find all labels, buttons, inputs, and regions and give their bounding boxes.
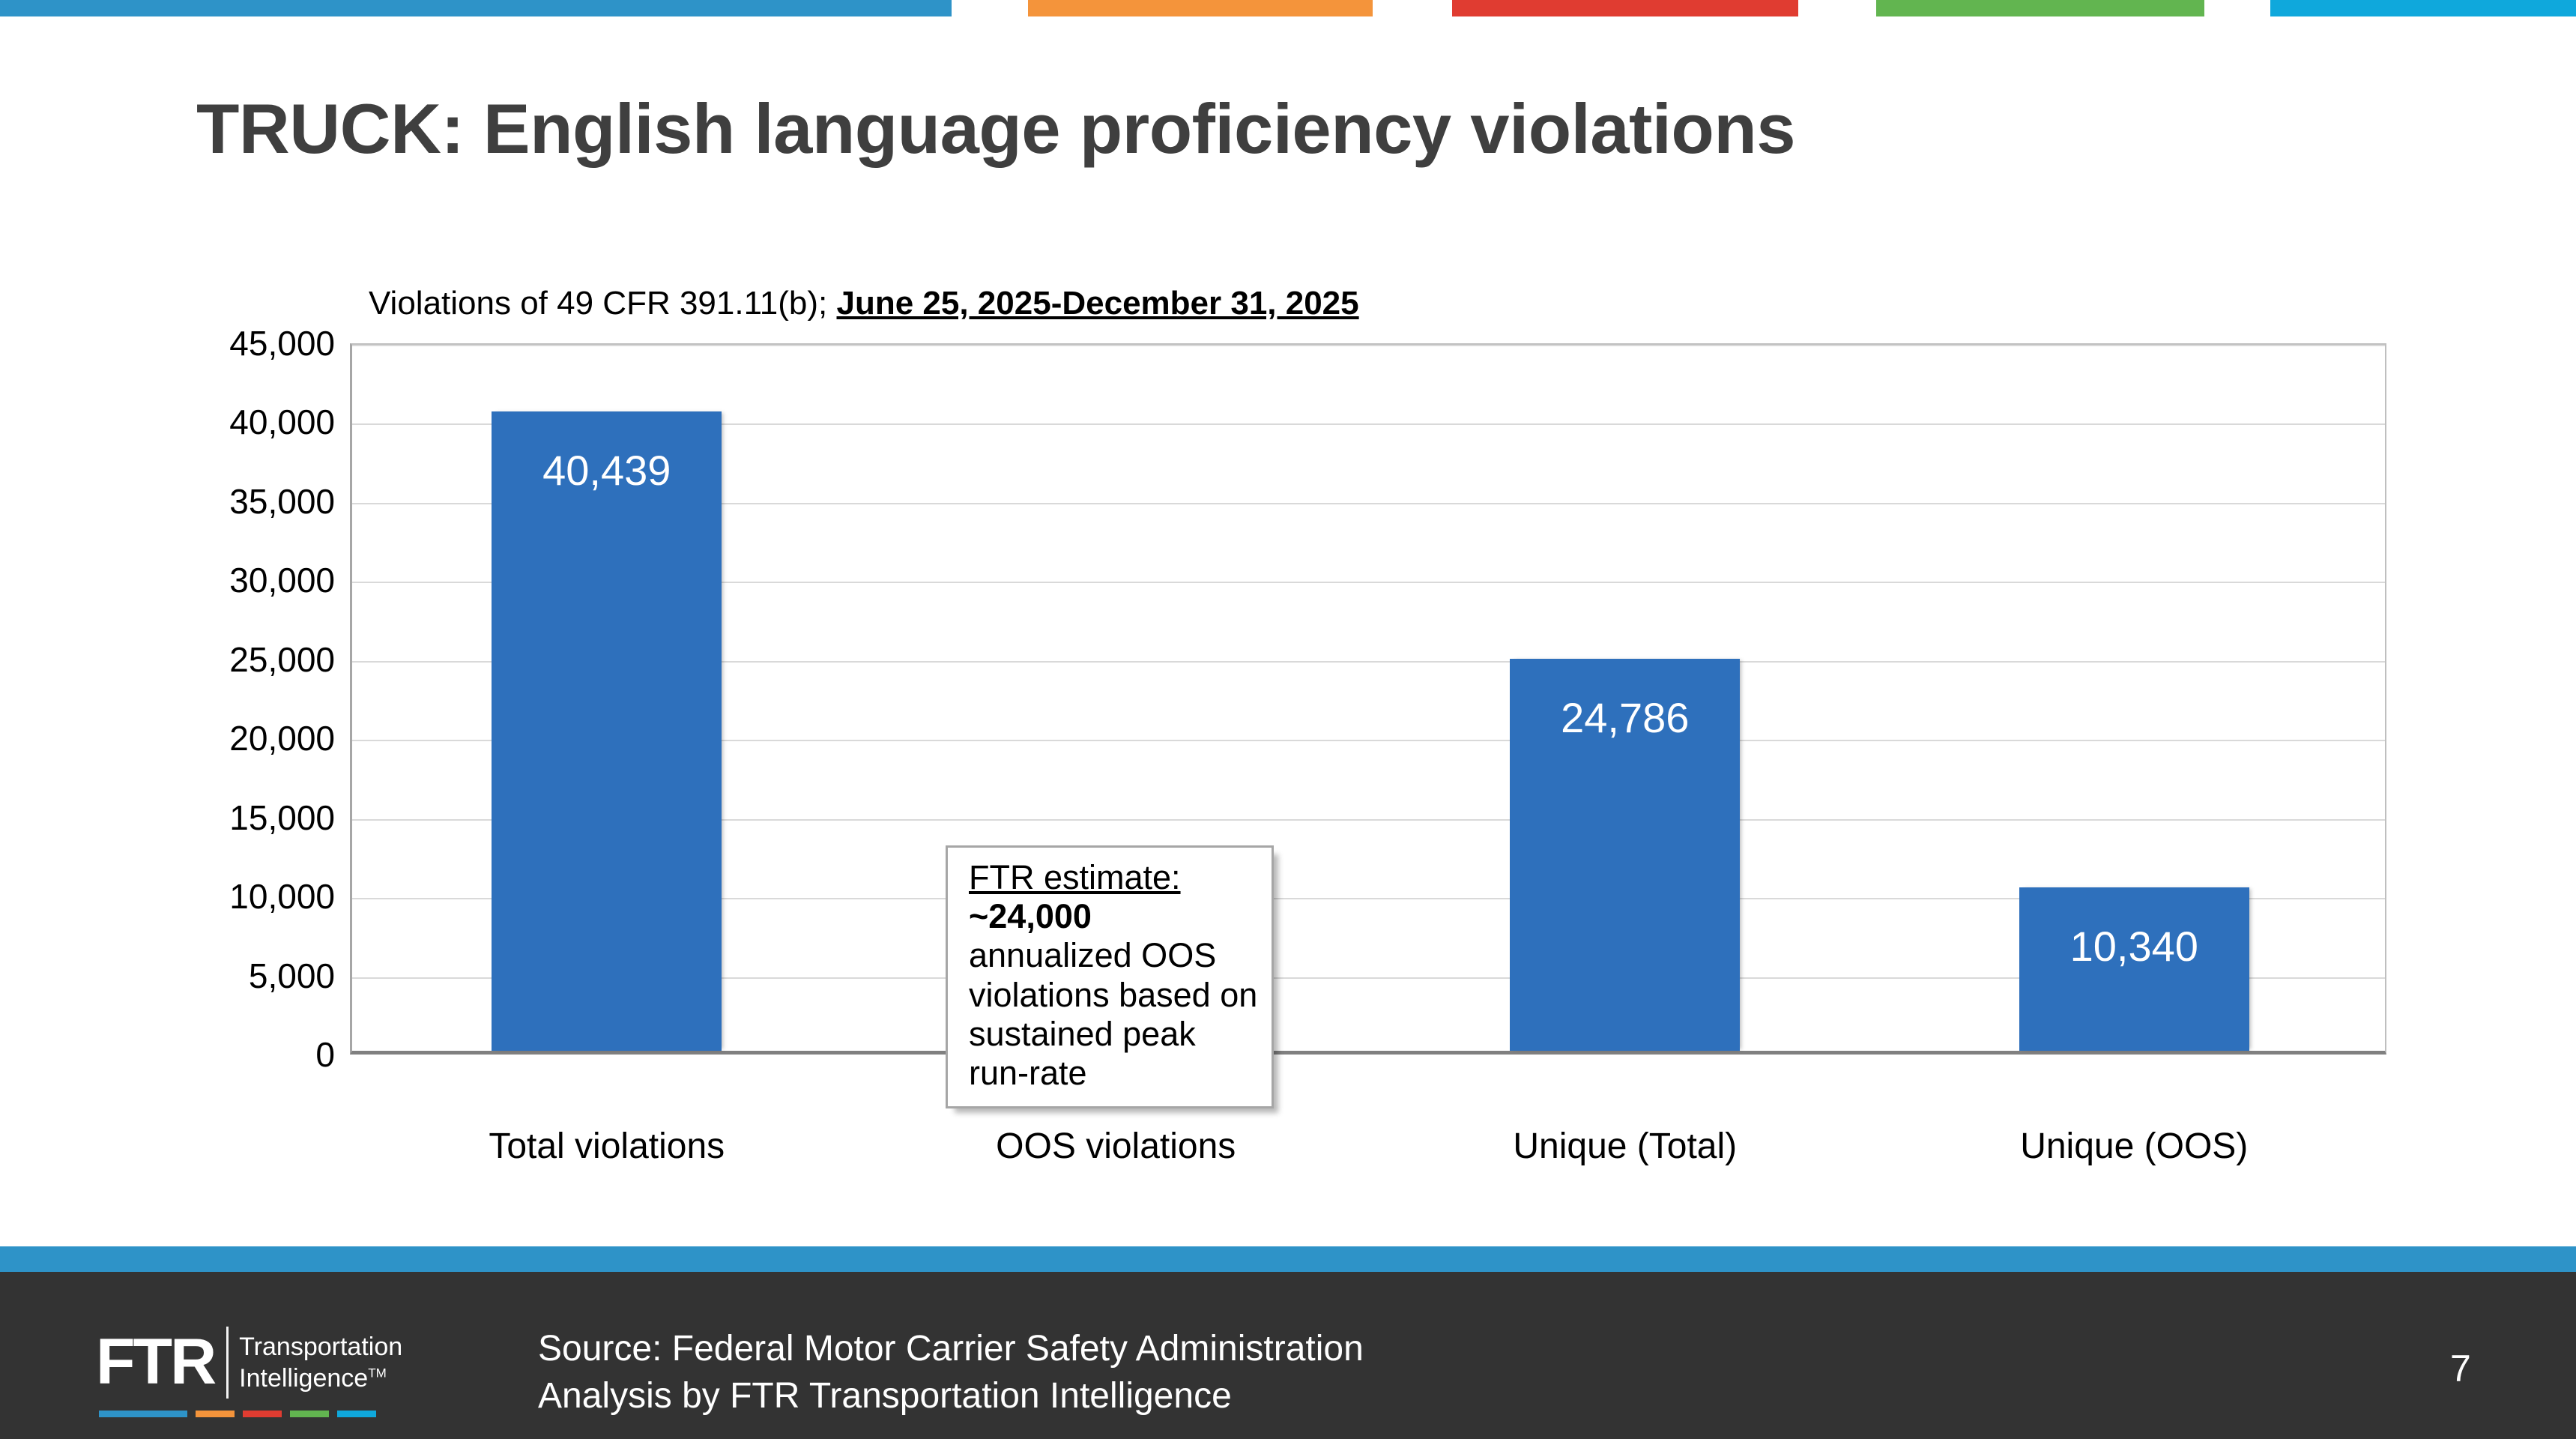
x-axis-category-label: Unique (OOS) [1880,1126,2389,1167]
bar-chart: Violations of 49 CFR 391.11(b); June 25,… [0,285,2576,1169]
trademark-icon: TM [368,1366,387,1381]
logo-bar-orange [196,1411,235,1417]
plot-area: 40,439Total violations11,513OOS violatio… [350,343,2386,1055]
bar: 40,439 [492,411,722,1051]
x-axis-category-label: Total violations [352,1126,862,1167]
slide-canvas: TRUCK: English language proficiency viol… [0,0,2576,1439]
page-number: 7 [2450,1347,2471,1390]
gridline [352,345,2385,346]
x-axis-category-label: OOS violations [862,1126,1371,1167]
logo-wordmark: FTR [96,1332,214,1393]
x-axis-category-label: Unique (Total) [1370,1126,1880,1167]
page-title: TRUCK: English language proficiency viol… [196,88,2369,169]
logo-tagline-line-2: Intelligence [239,1364,368,1393]
red-segment [1452,0,1798,16]
footer-accent-bar [0,1246,2576,1272]
y-axis-tick-label: 15,000 [110,797,335,838]
y-axis-tick-label: 0 [110,1034,335,1075]
logo-tagline-line-1: Transportation [239,1331,402,1363]
logo-bar-red [243,1411,282,1417]
y-axis-tick-label: 5,000 [110,956,335,996]
y-axis-tick-label: 45,000 [110,323,335,363]
callout-heading: FTR estimate: [969,858,1258,897]
chart-subtitle-date-range: June 25, 2025-December 31, 2025 [837,285,1359,322]
chart-subtitle-plain: Violations of 49 CFR 391.11(b); [369,285,837,322]
green-segment [1876,0,2204,16]
callout-textbox: FTR estimate: ~24,000 annualized OOS vio… [946,845,1274,1108]
y-axis-tick-labels: 45,00040,00035,00030,00025,00020,00015,0… [103,343,335,1055]
bar-value-label: 40,439 [492,446,722,495]
logo-tagline-line-2-wrap: IntelligenceTM [239,1363,402,1395]
ftr-logo: FTR Transportation IntelligenceTM [96,1327,471,1417]
blue-segment [0,0,952,16]
y-axis-tick-label: 30,000 [110,560,335,600]
callout-body: ~24,000 annualized OOS violations based … [969,897,1258,1093]
cyan-segment [2270,0,2576,16]
callout-body-text: annualized OOS violations based on susta… [969,936,1257,1092]
logo-divider [226,1327,229,1399]
source-note: Source: Federal Motor Carrier Safety Adm… [538,1325,1364,1420]
orange-segment [1028,0,1373,16]
bar: 24,786 [1510,659,1740,1051]
logo-bar-blue [99,1411,187,1417]
logo-accent-bars [99,1411,471,1417]
y-axis-tick-label: 10,000 [110,876,335,917]
callout-value: ~24,000 [969,897,1092,935]
y-axis-tick-label: 25,000 [110,639,335,680]
y-axis-tick-label: 35,000 [110,481,335,522]
logo-tagline: Transportation IntelligenceTM [239,1331,402,1395]
logo-bar-cyan [337,1411,376,1417]
top-accent-bar [0,0,2576,16]
bar-value-label: 24,786 [1510,693,1740,742]
logo-bar-green [290,1411,329,1417]
y-axis-tick-label: 20,000 [110,718,335,758]
y-axis-tick-label: 40,000 [110,402,335,442]
chart-subtitle: Violations of 49 CFR 391.11(b); June 25,… [369,285,1359,322]
bar-value-label: 10,340 [2019,922,2249,971]
bar: 10,340 [2019,887,2249,1051]
